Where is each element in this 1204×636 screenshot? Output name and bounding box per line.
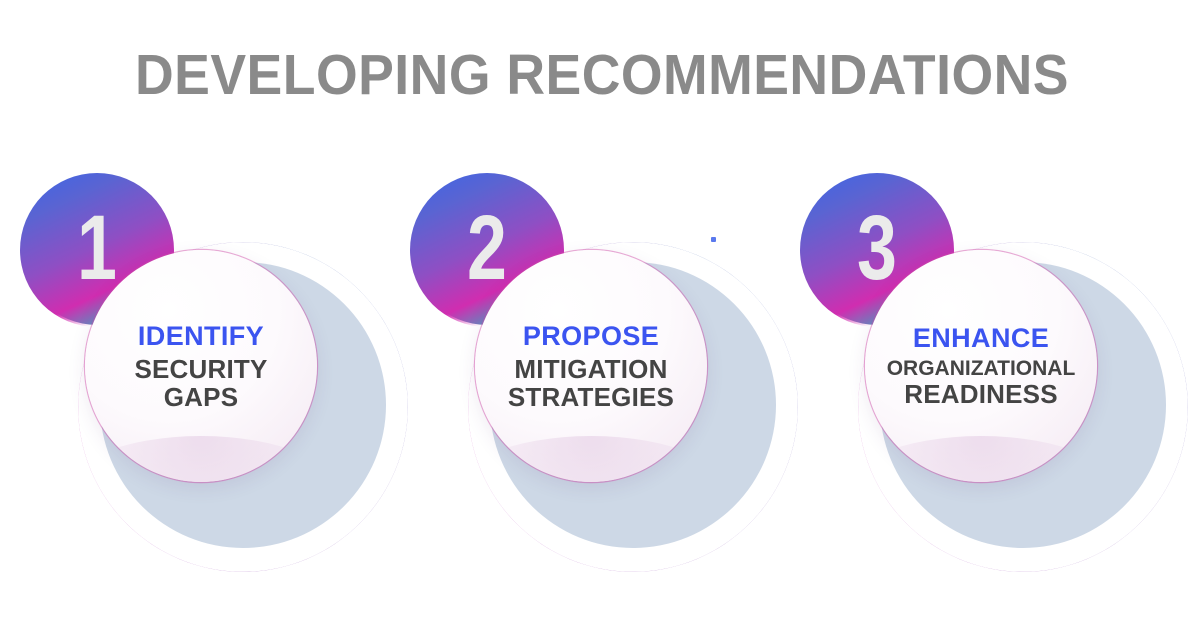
step-body-line-3b: READINESS [904, 381, 1058, 407]
step-text-1: IDENTIFY SECURITY GAPS [85, 250, 317, 482]
step-group-2: 2 PROPOSE MITIGATION STRATEGIES [390, 0, 800, 636]
step-body-line-2b: STRATEGIES [508, 384, 674, 410]
step-lead-word-3: ENHANCE [913, 325, 1049, 352]
step-group-3: 3 ENHANCE ORGANIZATIONAL READINESS [780, 0, 1190, 636]
step-body-line-1a: SECURITY [134, 356, 267, 382]
step-group-1: 1 IDENTIFY SECURITY GAPS [0, 0, 410, 636]
step-text-2: PROPOSE MITIGATION STRATEGIES [475, 250, 707, 482]
step-body-line-3a: ORGANIZATIONAL [887, 358, 1076, 379]
step-lead-word-1: IDENTIFY [138, 323, 264, 350]
step-text-3: ENHANCE ORGANIZATIONAL READINESS [865, 250, 1097, 482]
infographic-canvas: DEVELOPING RECOMMENDATIONS 1 IDENTIFY SE… [0, 0, 1204, 636]
step-lead-word-2: PROPOSE [523, 323, 659, 350]
step-body-line-2a: MITIGATION [514, 356, 667, 382]
step-body-line-1b: GAPS [164, 384, 238, 410]
